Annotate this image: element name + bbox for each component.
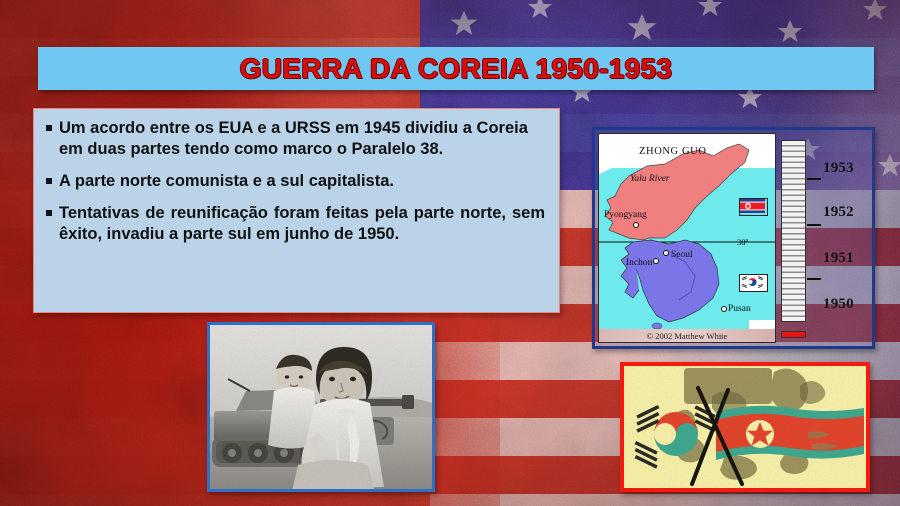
photo-tank-and-children: [210, 325, 432, 489]
map-city-dot-pyongyang: [633, 222, 639, 228]
war-timeline: 1953 1952 1951 1950: [781, 138, 873, 338]
map-credit: © 2002 Matthew White: [599, 329, 775, 342]
timeline-tick-1953: [807, 178, 821, 180]
title-banner: GUERRA DA COREIA 1950-1953: [38, 47, 874, 90]
timeline-year-1951: 1951: [823, 250, 854, 267]
list-item: A parte norte comunista e a sul capitali…: [46, 171, 545, 192]
korea-map-image: ZHONG GUO Yalu River Pyongyang 38º Seoul…: [598, 133, 776, 343]
timeline-start-marker: [781, 331, 806, 338]
slide: GUERRA DA COREIA 1950-1953 Um acordo ent…: [0, 0, 900, 506]
map-label-yalu-river: Yalu River: [630, 174, 670, 184]
timeline-tick-1952: [807, 224, 821, 226]
timeline-tick-1951: [807, 278, 821, 280]
bullet-square-icon: [46, 125, 52, 131]
bullet-text: Um acordo entre os EUA e a URSS em 1945 …: [59, 118, 545, 160]
map-label-pusan: Pusan: [728, 304, 751, 314]
south-korea-flag-icon: [739, 274, 768, 292]
list-item: Um acordo entre os EUA e a URSS em 1945 …: [46, 118, 545, 160]
korean-flags-poster: [620, 362, 870, 492]
map-city-dot-inchon: [653, 258, 659, 264]
timeline-year-1953: 1953: [823, 160, 854, 177]
map-label-pyongyang: Pyongyang: [604, 210, 647, 220]
bullet-square-icon: [46, 178, 52, 184]
map-label-inchon: Inchon: [626, 258, 652, 268]
korea-map-panel: ZHONG GUO Yalu River Pyongyang 38º Seoul…: [592, 127, 875, 349]
timeline-year-1952: 1952: [823, 204, 854, 221]
north-korea-flag-icon: [739, 198, 768, 216]
bullet-text: A parte norte comunista e a sul capitali…: [59, 171, 545, 192]
bullet-text-box: Um acordo entre os EUA e a URSS em 1945 …: [33, 108, 560, 313]
map-city-dot-seoul: [663, 250, 669, 256]
korean-war-photo: [207, 322, 435, 492]
bullet-text: Tentativas de reunificação foram feitas …: [59, 203, 545, 245]
map-label-38th-parallel: 38º: [737, 237, 748, 247]
list-item: Tentativas de reunificação foram feitas …: [46, 203, 545, 245]
timeline-year-1950: 1950: [823, 296, 854, 313]
page-title: GUERRA DA COREIA 1950-1953: [240, 53, 673, 85]
poster-artwork: [624, 366, 866, 488]
map-label-seoul: Seoul: [671, 250, 693, 260]
bullet-square-icon: [46, 210, 52, 216]
map-city-dot-pusan: [721, 306, 727, 312]
timeline-bar: [781, 140, 806, 322]
map-label-china: ZHONG GUO: [639, 146, 707, 157]
